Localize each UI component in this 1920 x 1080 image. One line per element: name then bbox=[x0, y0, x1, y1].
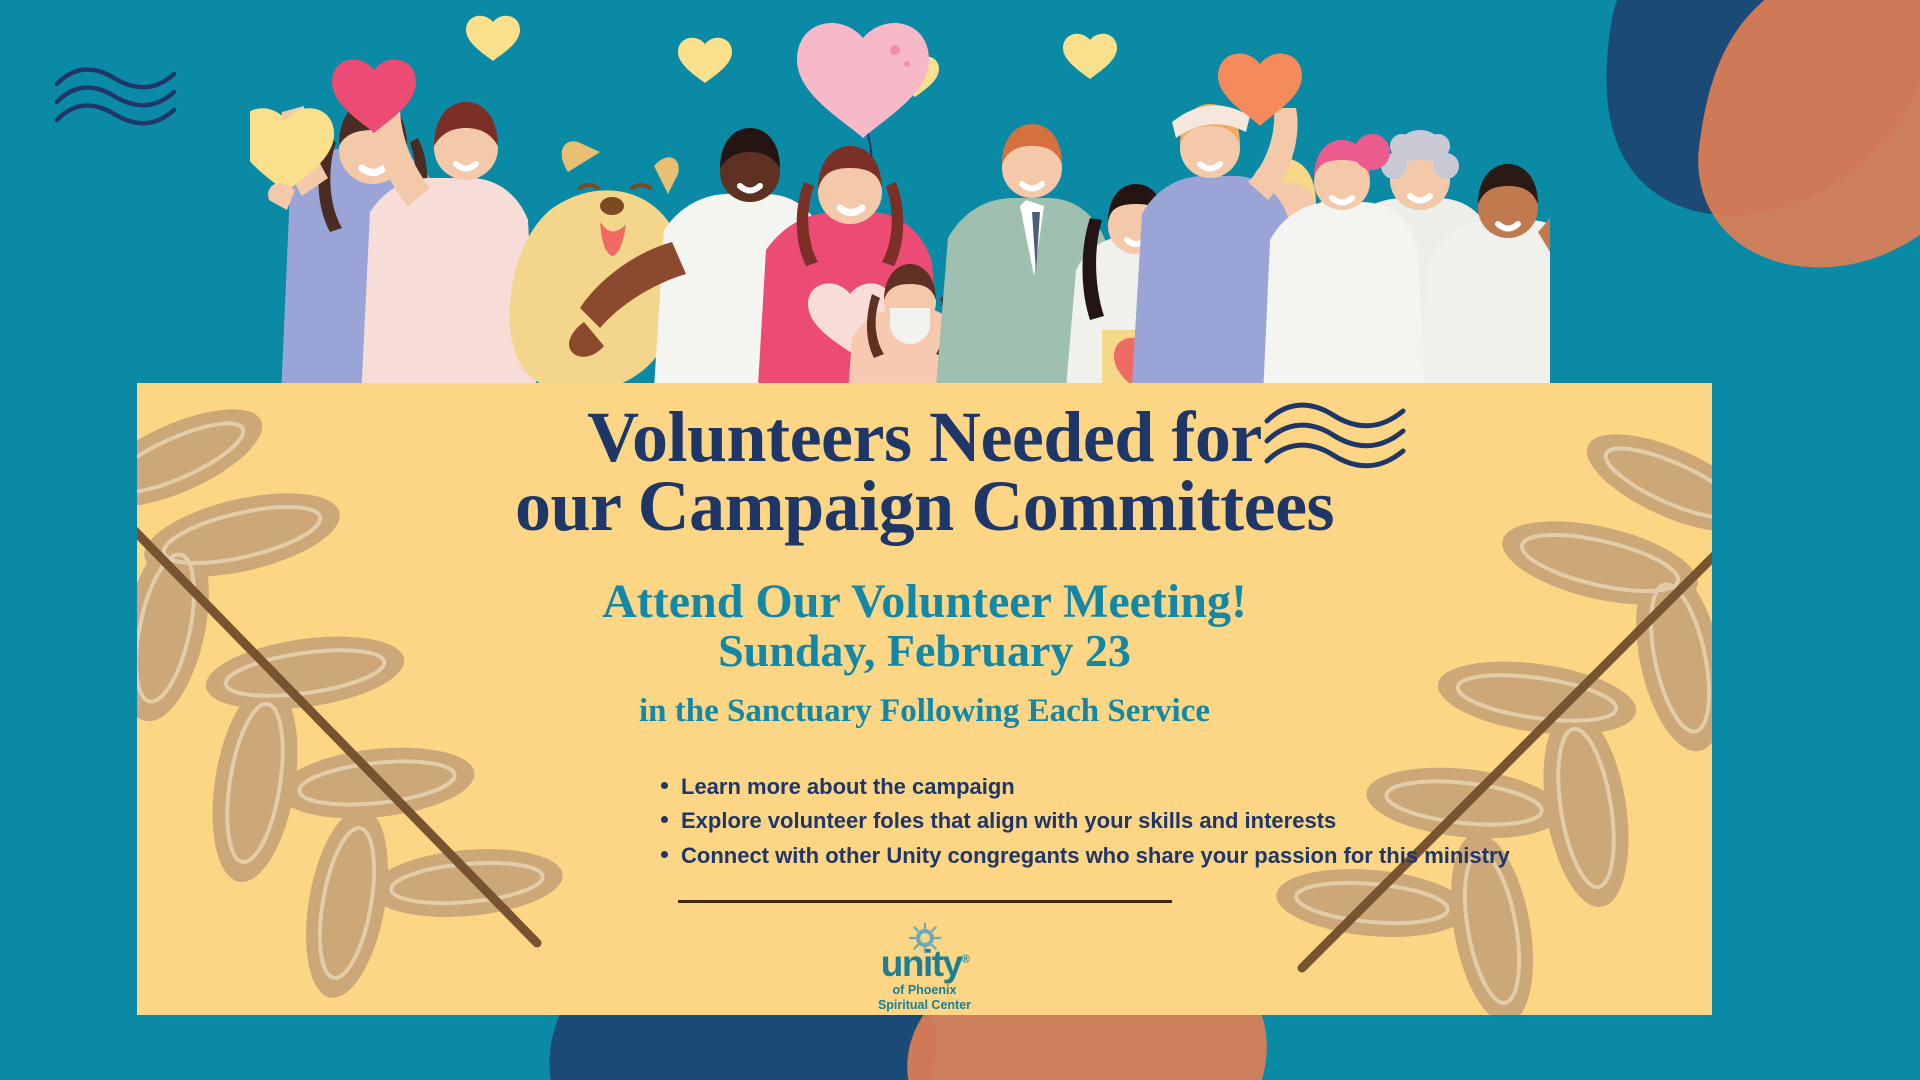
list-item: Connect with other Unity congregants who… bbox=[657, 839, 1657, 873]
title-line-1: Volunteers Needed for bbox=[587, 397, 1262, 477]
logo-subtitle-line-1: of Phoenix bbox=[815, 983, 1035, 997]
crowd-of-volunteers-illustration bbox=[250, 0, 1550, 420]
blob-top-right-navy bbox=[1606, 0, 1920, 215]
logo-trademark: ® bbox=[962, 954, 969, 966]
title-line-2: our Campaign Committees bbox=[137, 472, 1712, 541]
floating-hearts bbox=[466, 16, 1117, 97]
divider bbox=[678, 900, 1172, 903]
logo-wordmark: unity® bbox=[815, 947, 1035, 980]
subtitle-line-2: Sunday, February 23 bbox=[137, 628, 1712, 675]
poster-canvas: Volunteers Needed for our Campaign Commi… bbox=[0, 0, 1920, 1080]
card-content: Volunteers Needed for our Campaign Commi… bbox=[137, 383, 1712, 1015]
list-item: Learn more about the campaign bbox=[657, 770, 1657, 804]
announcement-card: Volunteers Needed for our Campaign Commi… bbox=[137, 383, 1712, 1015]
logo-subtitle: of Phoenix Spiritual Center bbox=[815, 983, 1035, 1012]
unity-logo: unity® of Phoenix Spiritual Center bbox=[815, 923, 1035, 1012]
wavy-lines-icon bbox=[52, 52, 182, 132]
subtitle-line-3: in the Sanctuary Following Each Service bbox=[137, 695, 1712, 729]
page-title: Volunteers Needed for our Campaign Commi… bbox=[137, 403, 1712, 541]
logo-subtitle-line-2: Spiritual Center bbox=[815, 998, 1035, 1012]
list-item: Explore volunteer foles that align with … bbox=[657, 804, 1657, 838]
blob-top-right-orange bbox=[1698, 0, 1920, 267]
benefits-list: Learn more about the campaign Explore vo… bbox=[657, 770, 1657, 873]
subtitle-line-1: Attend Our Volunteer Meeting! bbox=[137, 578, 1712, 627]
